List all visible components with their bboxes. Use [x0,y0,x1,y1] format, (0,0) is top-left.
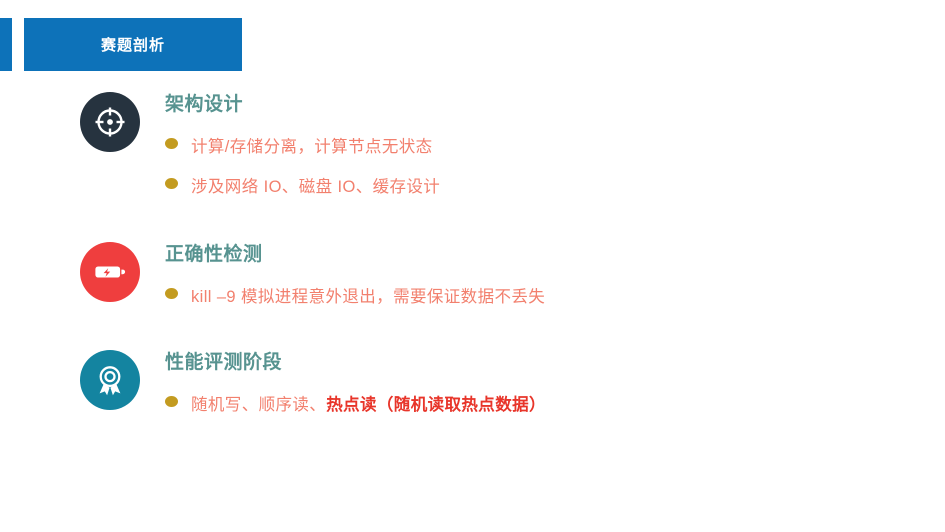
bullet-dot-icon [165,178,178,189]
section-body: 架构设计 计算/存储分离，计算节点无状态 涉及网络 IO、磁盘 IO、缓存设计 [165,92,925,198]
left-edge-accent-bar [0,18,12,71]
battery-charge-icon [80,242,140,302]
section-body: 正确性检测 kill –9 模拟进程意外退出，需要保证数据不丢失 [165,242,925,308]
bullet-text: 涉及网络 IO、磁盘 IO、缓存设计 [191,176,440,198]
slide-title-text: 赛题剖析 [101,34,165,55]
section-heading: 架构设计 [165,92,925,118]
section-heading: 性能评测阶段 [165,350,925,376]
award-ribbon-icon [80,350,140,410]
slide-title-banner: 赛题剖析 [24,18,242,71]
bullet-text-plain: 随机写、顺序读、 [191,396,326,414]
bullet-item: 涉及网络 IO、磁盘 IO、缓存设计 [165,176,925,198]
section-heading: 正确性检测 [165,242,925,268]
bullet-text: kill –9 模拟进程意外退出，需要保证数据不丢失 [191,286,545,308]
bullet-text-emphasis: 热点读（随机读取热点数据） [326,396,546,414]
bullet-item: 计算/存储分离，计算节点无状态 [165,136,925,158]
bullet-text: 随机写、顺序读、热点读（随机读取热点数据） [191,394,546,416]
bullet-item: 随机写、顺序读、热点读（随机读取热点数据） [165,394,925,416]
bullet-dot-icon [165,396,178,407]
bullet-dot-icon [165,288,178,299]
bullet-dot-icon [165,138,178,149]
crosshair-target-icon [80,92,140,152]
bullet-text: 计算/存储分离，计算节点无状态 [191,136,433,158]
bullet-item: kill –9 模拟进程意外退出，需要保证数据不丢失 [165,286,925,308]
section-body: 性能评测阶段 随机写、顺序读、热点读（随机读取热点数据） [165,350,925,416]
